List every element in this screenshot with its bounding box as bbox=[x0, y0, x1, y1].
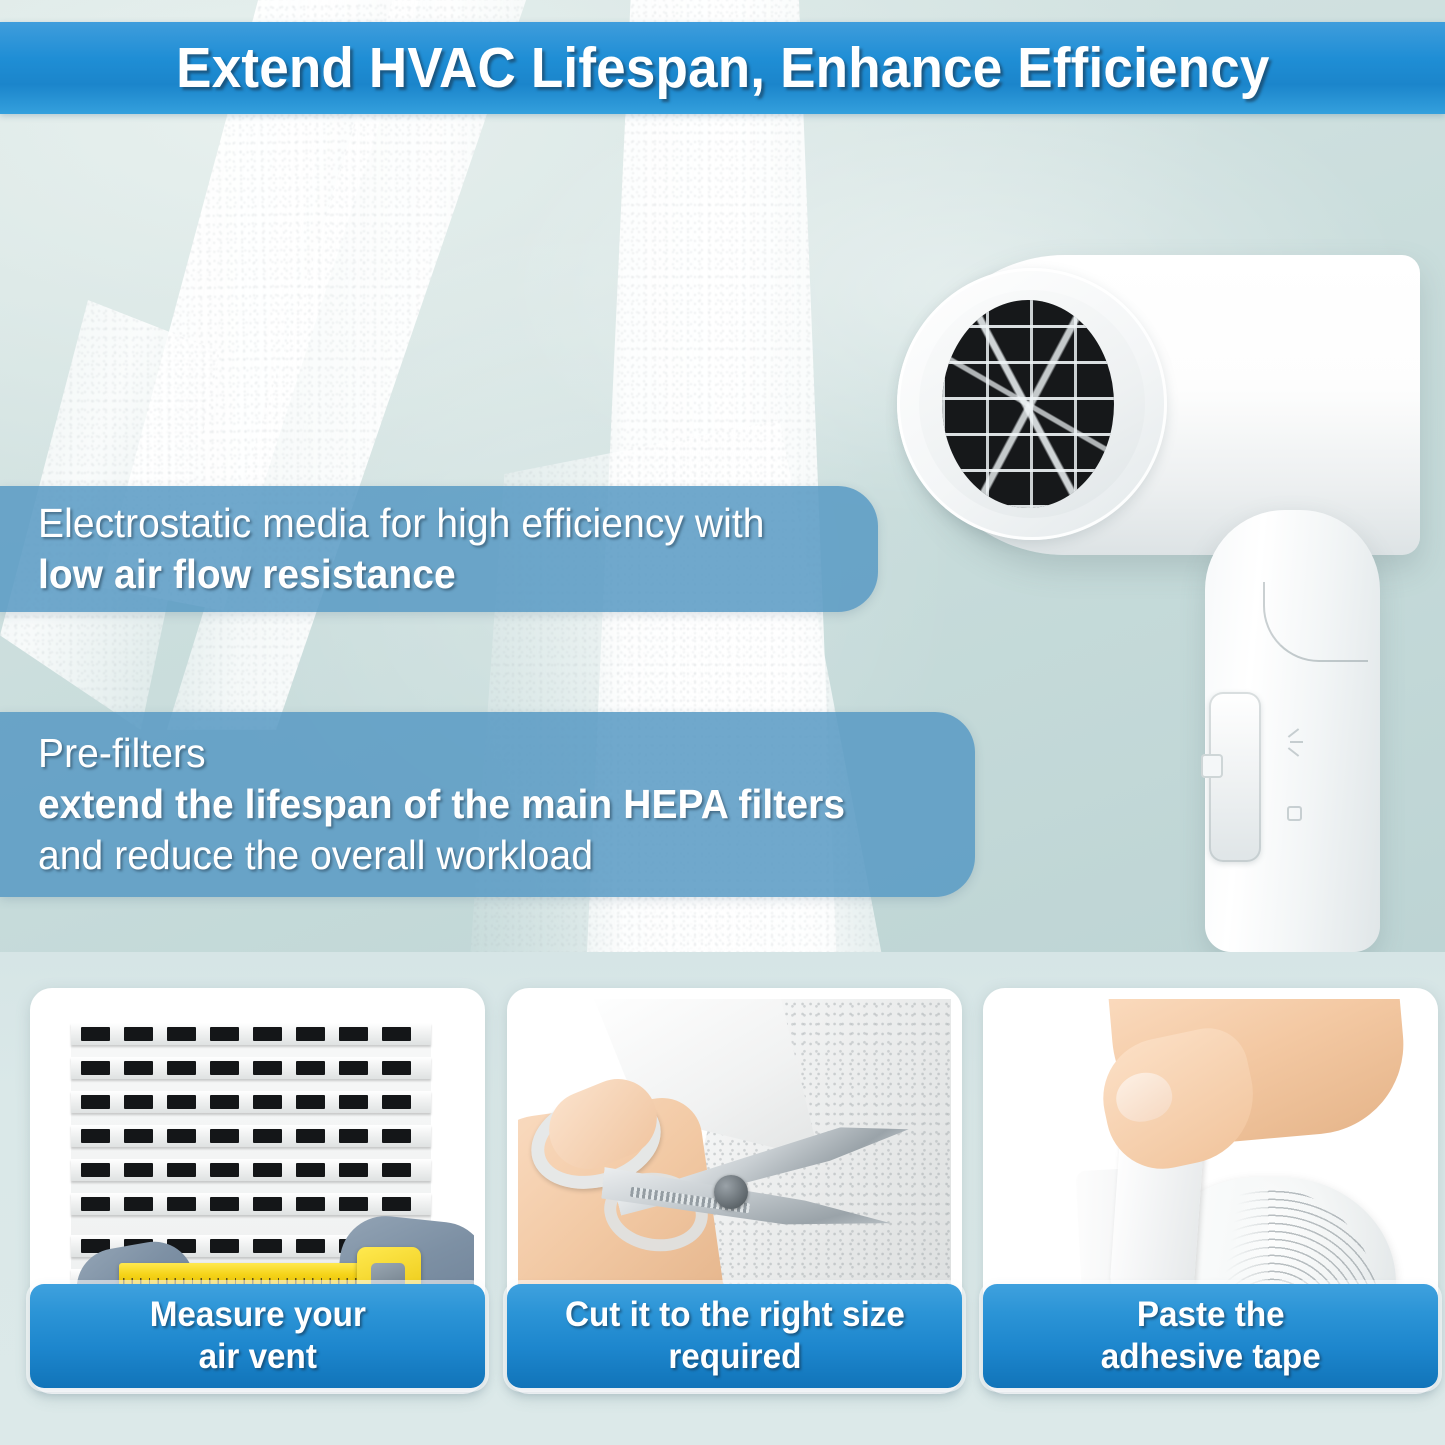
hvac-vent-grille bbox=[71, 1023, 431, 1323]
dryer-mode-icon bbox=[1287, 806, 1302, 821]
step-1-caption: Measure your air vent bbox=[30, 1284, 485, 1388]
step-3-caption-text: Paste the adhesive tape bbox=[1101, 1294, 1321, 1378]
dryer-power-switch bbox=[1209, 692, 1261, 862]
page-title: Extend HVAC Lifespan, Enhance Efficiency bbox=[176, 40, 1269, 97]
step-2-caption-line-2: required bbox=[668, 1337, 801, 1376]
step-measure-air-vent: Measure your air vent bbox=[30, 988, 485, 1408]
step-1-caption-line-1: Measure your bbox=[149, 1295, 365, 1334]
header-banner: Extend HVAC Lifespan, Enhance Efficiency bbox=[0, 22, 1445, 114]
hero-section: Electrostatic media for high efficiency … bbox=[0, 0, 1445, 952]
callout-pre-filters: Pre-filters extend the lifespan of the m… bbox=[0, 712, 975, 897]
callout-2-line-1: Pre-filters bbox=[38, 728, 903, 779]
callout-2-line-3: and reduce the overall workload bbox=[38, 830, 903, 881]
callout-1-line-2: low air flow resistance bbox=[38, 549, 811, 600]
step-1-caption-text: Measure your air vent bbox=[149, 1294, 365, 1378]
callout-electrostatic-media: Electrostatic media for high efficiency … bbox=[0, 486, 878, 612]
step-2-caption: Cut it to the right size required bbox=[507, 1284, 962, 1388]
scissors-pivot-screw bbox=[714, 1175, 748, 1209]
step-3-caption-line-2: adhesive tape bbox=[1101, 1337, 1321, 1376]
step-1-caption-line-2: air vent bbox=[198, 1337, 316, 1376]
step-paste-adhesive-tape: Paste the adhesive tape bbox=[983, 988, 1438, 1408]
infographic-canvas: Electrostatic media for high efficiency … bbox=[0, 0, 1445, 1445]
callout-2-line-2: extend the lifespan of the main HEPA fil… bbox=[38, 779, 903, 830]
callout-1-line-1: Electrostatic media for high efficiency … bbox=[38, 498, 811, 549]
step-2-caption-line-1: Cut it to the right size bbox=[565, 1295, 905, 1334]
dryer-grille-icon bbox=[942, 300, 1114, 508]
step-3-caption-line-1: Paste the bbox=[1137, 1295, 1285, 1334]
step-cut-to-size: Cut it to the right size required bbox=[507, 988, 962, 1408]
step-3-caption: Paste the adhesive tape bbox=[983, 1284, 1438, 1388]
dryer-airflow-icon bbox=[1285, 730, 1315, 790]
step-2-caption-text: Cut it to the right size required bbox=[565, 1294, 905, 1378]
steps-section: Measure your air vent bbox=[0, 952, 1445, 1445]
